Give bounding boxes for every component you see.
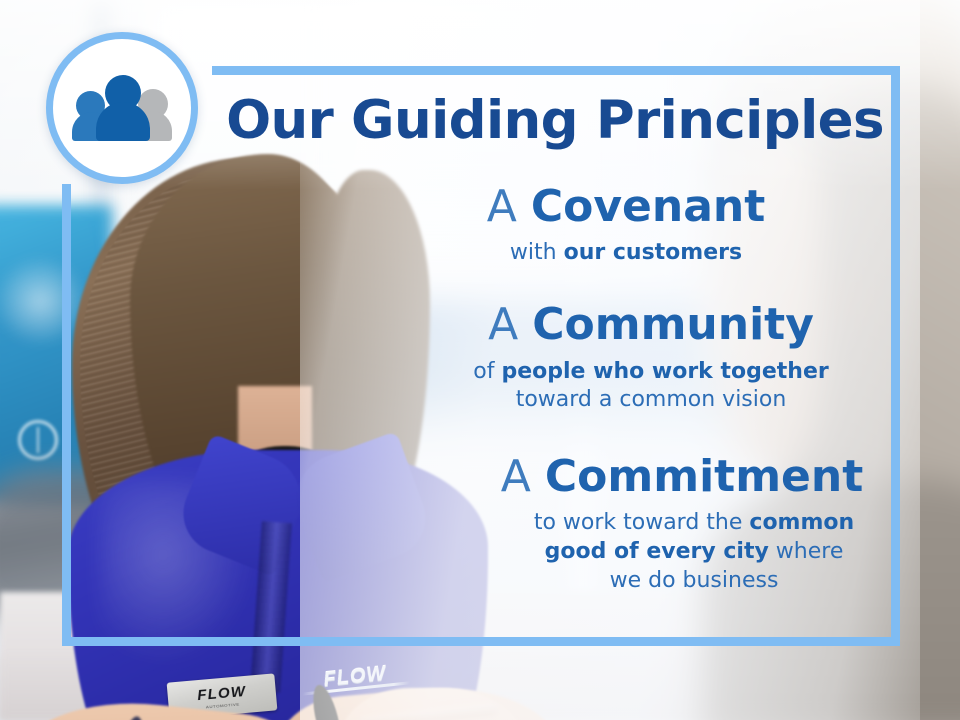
people-group-icon	[74, 75, 170, 141]
article: A	[487, 181, 517, 232]
principle-keyword: Community	[532, 299, 814, 350]
principle-commitment: A Commitment to work toward the common g…	[464, 453, 900, 595]
principle-keyword: Covenant	[531, 181, 765, 232]
principle-title-community: A Community	[402, 301, 900, 349]
principle-title-covenant: A Covenant	[352, 183, 900, 231]
principles-list: A Covenant with our customers A Communit…	[330, 183, 900, 595]
principle-sub-community: of people who work together toward a com…	[402, 358, 900, 415]
article: A	[488, 299, 518, 350]
principle-sub-commitment: to work toward the common good of every …	[488, 509, 900, 595]
principle-title-commitment: A Commitment	[464, 453, 900, 501]
sub-line1-bold: our customers	[564, 240, 743, 265]
page-title: Our Guiding Principles	[210, 94, 900, 148]
sub-line1-bold: common	[749, 510, 854, 535]
sub-line3-plain: we do business	[610, 568, 779, 593]
article: A	[501, 451, 531, 502]
sub-line1-plain: to work toward the	[534, 510, 750, 535]
principle-community: A Community of people who work together …	[402, 301, 900, 415]
sub-line1-plain: of	[473, 359, 501, 384]
sub-line2-plain: toward a common vision	[516, 387, 787, 412]
sub-line1-bold: people who work together	[501, 359, 828, 384]
nametag-logo-text: FLOW	[197, 683, 247, 702]
sub-line2-bold: good of every city	[545, 539, 769, 564]
principle-covenant: A Covenant with our customers	[352, 183, 900, 267]
sub-line2-plain: where	[769, 539, 844, 564]
people-group-badge	[46, 32, 198, 184]
sub-line1-plain: with	[510, 240, 564, 265]
vw-logo-icon	[18, 420, 58, 460]
principle-keyword: Commitment	[545, 451, 863, 502]
guiding-principles-graphic: FLOW AUTOMOTIVE FLOW	[0, 0, 960, 720]
principle-sub-covenant: with our customers	[352, 239, 900, 268]
